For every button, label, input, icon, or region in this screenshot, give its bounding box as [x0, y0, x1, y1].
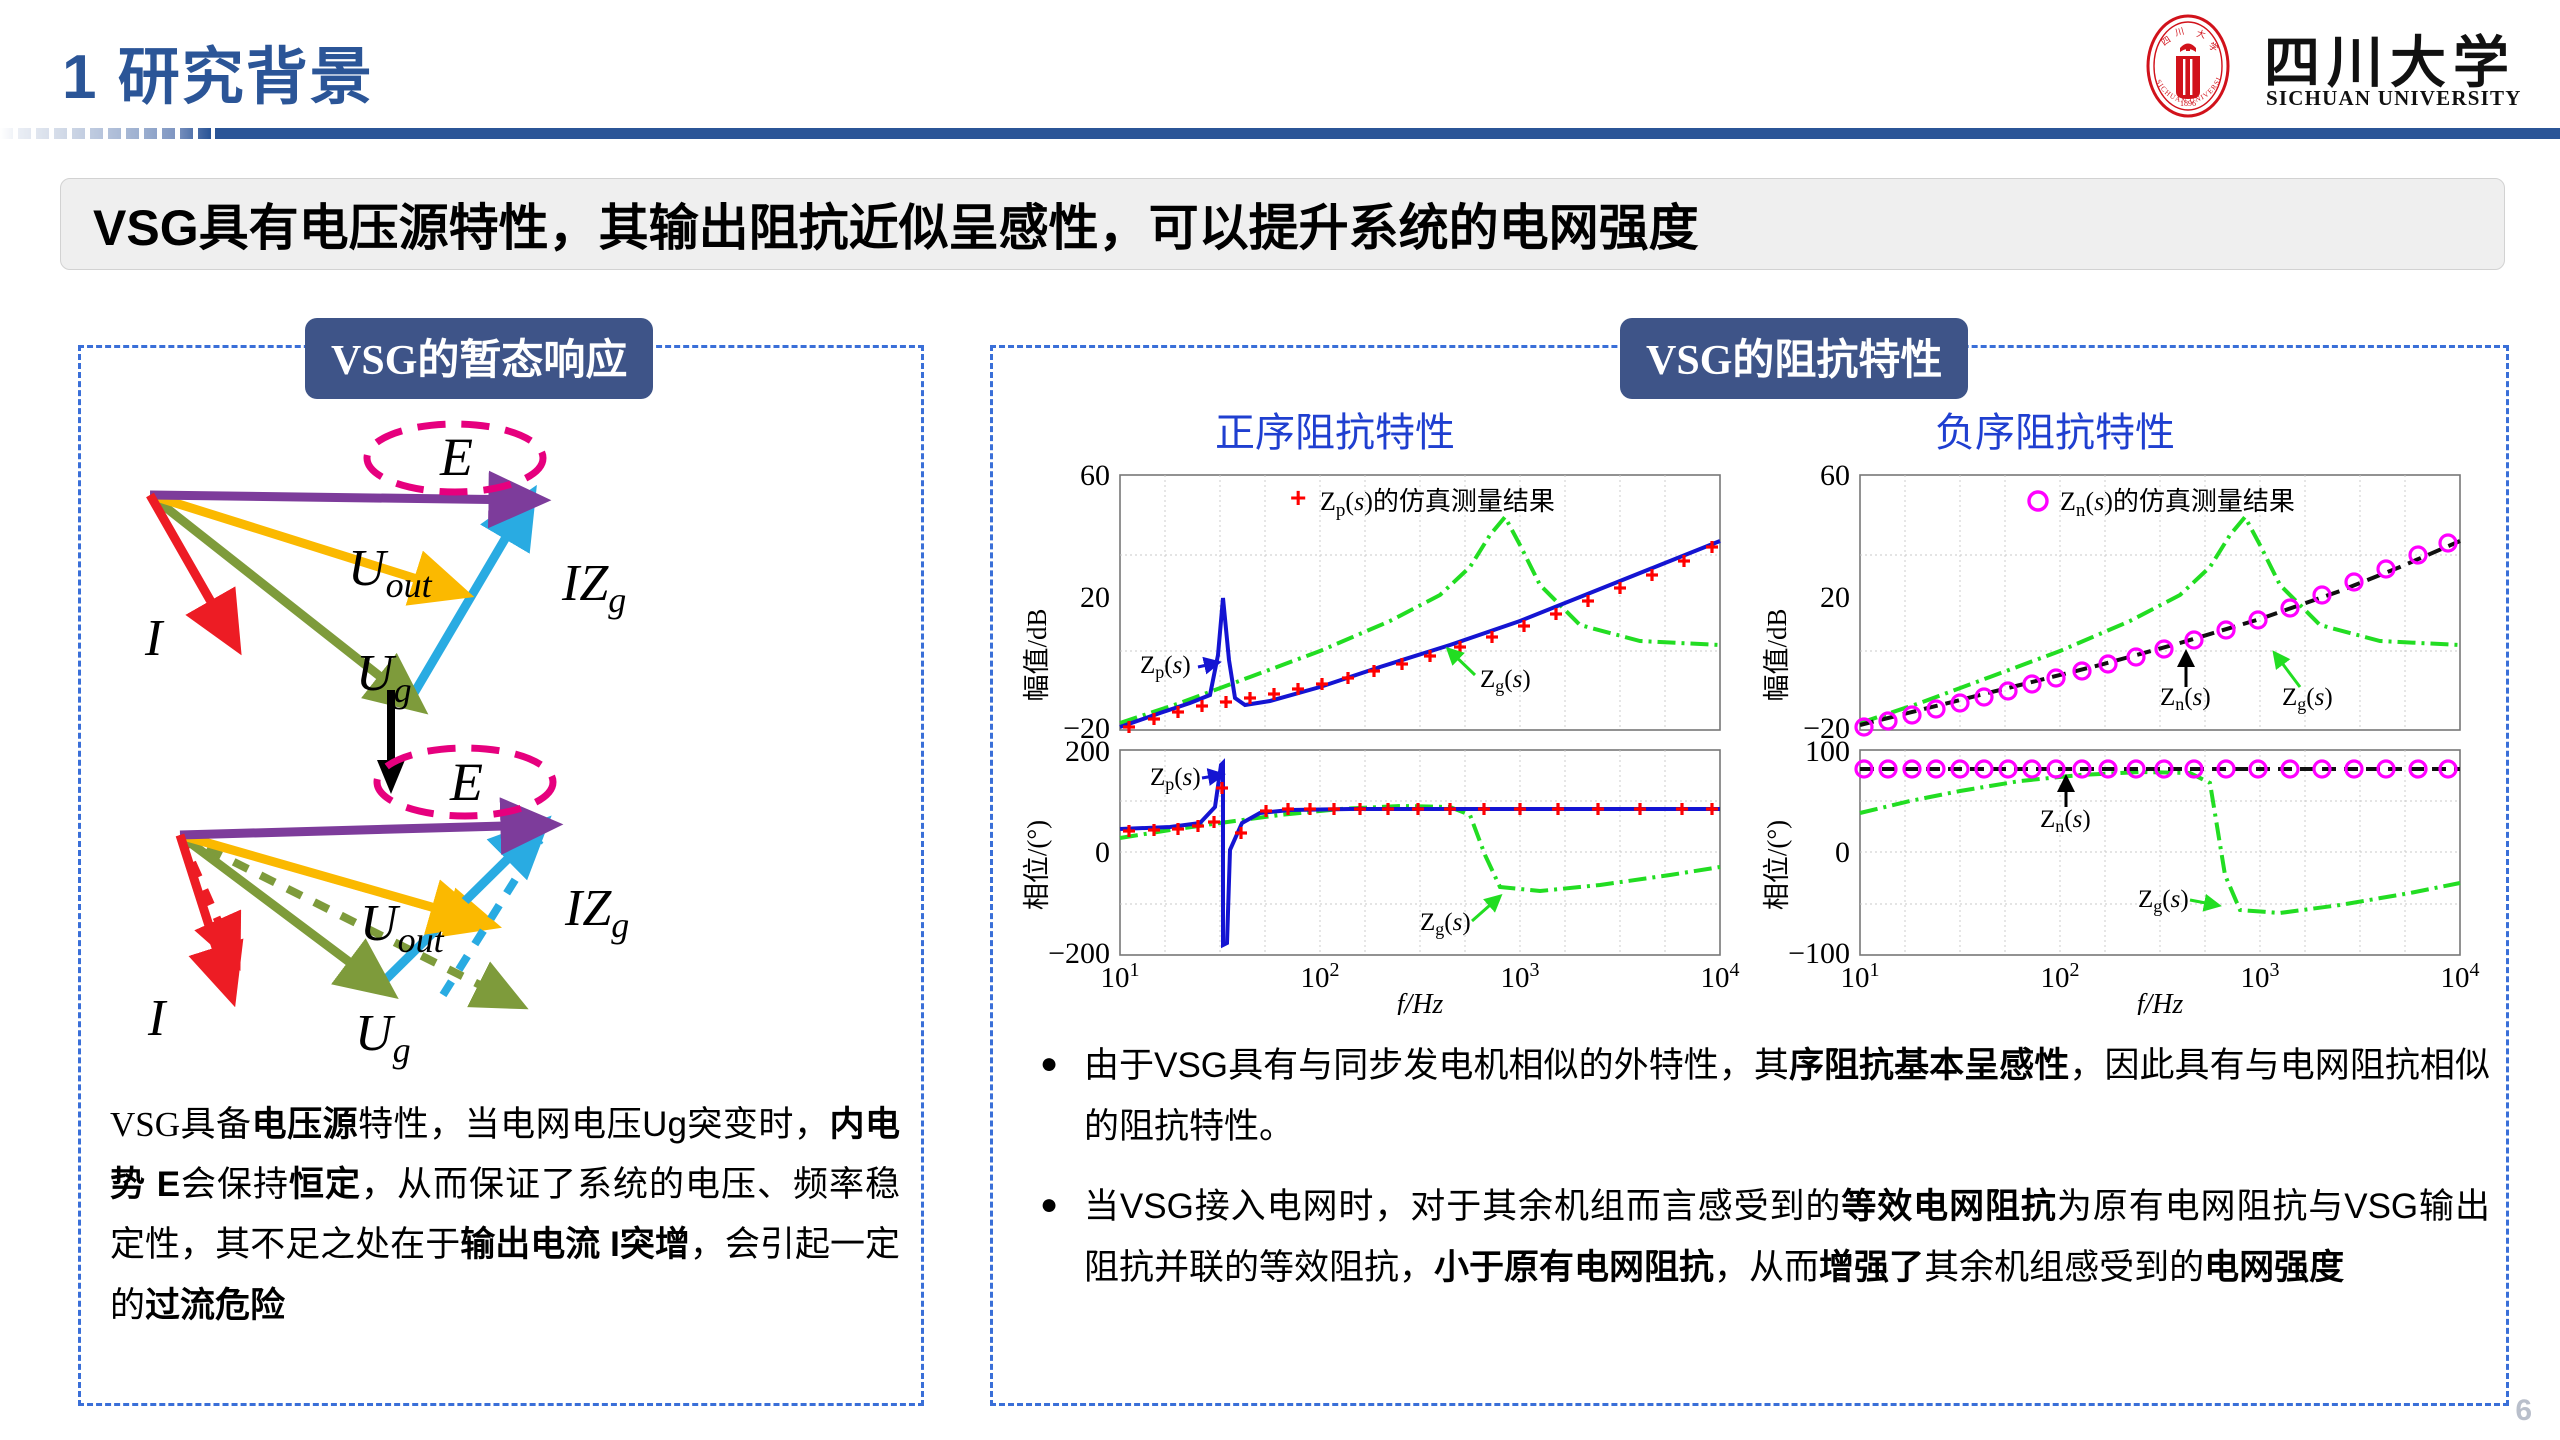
- page-title: 1 研究背景: [62, 26, 374, 116]
- x-tick-3: 103: [1501, 959, 1540, 994]
- phasor-e-solid: [180, 825, 540, 835]
- label-izg-2: IZg: [564, 880, 629, 945]
- x-tick-4: 104: [1701, 959, 1740, 994]
- university-seal-icon: 四 川 大 学 1896 SICHUAN UNIVERSITY: [2124, 14, 2252, 118]
- x-tick-4-n: 104: [2441, 959, 2480, 994]
- annot-zp-magnitude: Zp(s): [1140, 652, 1191, 682]
- list-item: ●当VSG接入电网时，对于其余机组而言感受到的等效电网阻抗为原有电网阻抗与VSG…: [1040, 1176, 2490, 1299]
- label-i-2: I: [147, 990, 168, 1047]
- page-number: 6: [2515, 1394, 2532, 1428]
- label-uout: Uout: [348, 540, 433, 605]
- bullet-list: ●由于VSG具有与同步发电机相似的外特性，其序阻抗基本呈感性，因此具有与电网阻抗…: [1040, 1035, 2490, 1316]
- legend-marker-plus: +: [1290, 482, 1306, 513]
- bullet-segment: 当VSG接入电网时，对于其余机组而言感受到的: [1084, 1187, 1841, 1226]
- left-explanation-paragraph: VSG具备电压源特性，当电网电压Ug突变时，内电势 E会保持恒定，从而保证了系统…: [110, 1095, 900, 1336]
- title-divider: [0, 128, 2560, 139]
- x-tick-2-n: 102: [2041, 959, 2080, 994]
- bullet-dot-icon: ●: [1040, 1035, 1084, 1158]
- banner-text: VSG具有电压源特性，其输出阻抗近似呈感性，可以提升系统的电网强度: [93, 188, 1699, 260]
- label-e-2: E: [449, 752, 483, 812]
- bode-chart-negative-sequence: 幅值/dB 相位/(°) 60 20 −20 Zn(s)的仿真测量结果 Zn(s…: [1760, 455, 2480, 1015]
- legend-label-positive: Zp(s)的仿真测量结果: [1320, 487, 1555, 521]
- axis-label-frequency-n: f/Hz: [2137, 989, 2184, 1015]
- annot-zg-phase: Zg(s): [1420, 909, 1471, 939]
- bullet-segment: 小于原有电网阻抗: [1434, 1248, 1714, 1287]
- svg-text:四: 四: [2159, 34, 2172, 47]
- label-ug-2: Ug: [355, 1005, 411, 1070]
- axis-label-magnitude: 幅值/dB: [1022, 608, 1052, 701]
- phasor-e: [150, 495, 528, 500]
- annot-zn-phase: Zn(s): [2040, 806, 2091, 836]
- bullet-segment: 序阻抗基本呈感性: [1789, 1046, 2069, 1085]
- paragraph-segment: 输出电流 I突增: [460, 1225, 690, 1264]
- label-izg: IZg: [561, 555, 626, 620]
- x-tick-1-n: 101: [1841, 959, 1880, 994]
- mag-tick-60: 60: [1080, 459, 1110, 492]
- phase-tick-0: 0: [1095, 836, 1110, 869]
- annot-zg-phase-n: Zg(s): [2138, 886, 2189, 916]
- axis-label-magnitude-n: 幅值/dB: [1762, 608, 1792, 701]
- bullet-segment: 增强了: [1819, 1248, 1924, 1287]
- mag-tick-20-n: 20: [1820, 581, 1850, 614]
- x-tick-3-n: 103: [2241, 959, 2280, 994]
- svg-text:川: 川: [2174, 26, 2185, 38]
- annot-zp-phase: Zp(s): [1150, 764, 1201, 794]
- x-tick-2: 102: [1301, 959, 1340, 994]
- paragraph-segment: 具备: [180, 1105, 252, 1144]
- paragraph-segment: 特性，当电网电压Ug突变时，: [358, 1105, 829, 1144]
- paragraph-segment: 会保持: [180, 1165, 289, 1204]
- annot-zg-magnitude: Zg(s): [1480, 666, 1531, 696]
- bullet-dot-icon: ●: [1040, 1176, 1084, 1299]
- axis-label-phase-n: 相位/(°): [1762, 820, 1792, 910]
- label-i: I: [144, 610, 165, 667]
- bullet-segment: 电网强度: [2204, 1248, 2344, 1287]
- x-tick-1: 101: [1101, 959, 1140, 994]
- paragraph-segment: 过流危险: [145, 1286, 285, 1325]
- paragraph-segment: VSG: [110, 1105, 180, 1144]
- key-statement-banner: VSG具有电压源特性，其输出阻抗近似呈感性，可以提升系统的电网强度: [60, 178, 2505, 270]
- annot-zn-magnitude: Zn(s): [2160, 684, 2211, 714]
- bullet-text: 由于VSG具有与同步发电机相似的外特性，其序阻抗基本呈感性，因此具有与电网阻抗相…: [1084, 1035, 2490, 1158]
- panel-left-tag: VSG的暂态响应: [305, 318, 653, 399]
- bode-chart-positive-sequence: 幅值/dB 相位/(°) 60 20 −20 + Zp(s)的仿真测量结果: [1020, 455, 1740, 1015]
- axis-label-frequency: f/Hz: [1397, 989, 1444, 1015]
- phase-tick-200: 200: [1065, 735, 1110, 768]
- bullet-segment: 等效电网阻抗: [1841, 1187, 2057, 1226]
- phase-tick-0-n: 0: [1835, 836, 1850, 869]
- annot-zg-magnitude-n: Zg(s): [2282, 684, 2333, 714]
- bullet-text: 当VSG接入电网时，对于其余机组而言感受到的等效电网阻抗为原有电网阻抗与VSG输…: [1084, 1176, 2490, 1299]
- svg-text:学: 学: [2207, 40, 2221, 54]
- panel-right-tag: VSG的阻抗特性: [1620, 318, 1968, 399]
- bullet-segment: 其余机组感受到的: [1924, 1248, 2204, 1287]
- axis-label-phase: 相位/(°): [1022, 820, 1052, 910]
- chart-title-positive: 正序阻抗特性: [1215, 400, 1455, 458]
- label-e: E: [439, 427, 473, 487]
- phasor-ug-solid: [180, 835, 380, 985]
- svg-text:大: 大: [2195, 27, 2207, 40]
- mag-tick-60-n: 60: [1820, 459, 1850, 492]
- phasor-diagram-transient: E Uout Ug IZg I: [110, 690, 950, 1090]
- divider-dot-pattern: [0, 128, 215, 139]
- mag-tick-20: 20: [1080, 581, 1110, 614]
- chart-title-negative: 负序阻抗特性: [1935, 400, 2175, 458]
- bullet-segment: 由于VSG具有与同步发电机相似的外特性，其: [1084, 1046, 1789, 1085]
- legend-label-negative: Zn(s)的仿真测量结果: [2060, 487, 2295, 521]
- paragraph-segment: 恒定: [289, 1165, 361, 1204]
- list-item: ●由于VSG具有与同步发电机相似的外特性，其序阻抗基本呈感性，因此具有与电网阻抗…: [1040, 1035, 2490, 1158]
- phase-tick-100-n: 100: [1805, 735, 1850, 768]
- bullet-segment: ，从而: [1714, 1248, 1819, 1287]
- sichuan-university-logo: 四 川 大 学 1896 SICHUAN UNIVERSITY 四川大学 SIC…: [2124, 12, 2534, 120]
- paragraph-segment: 电压源: [252, 1105, 359, 1144]
- logo-name-en: SICHUAN UNIVERSITY: [2266, 86, 2522, 111]
- phasor-izg-solid: [380, 832, 535, 985]
